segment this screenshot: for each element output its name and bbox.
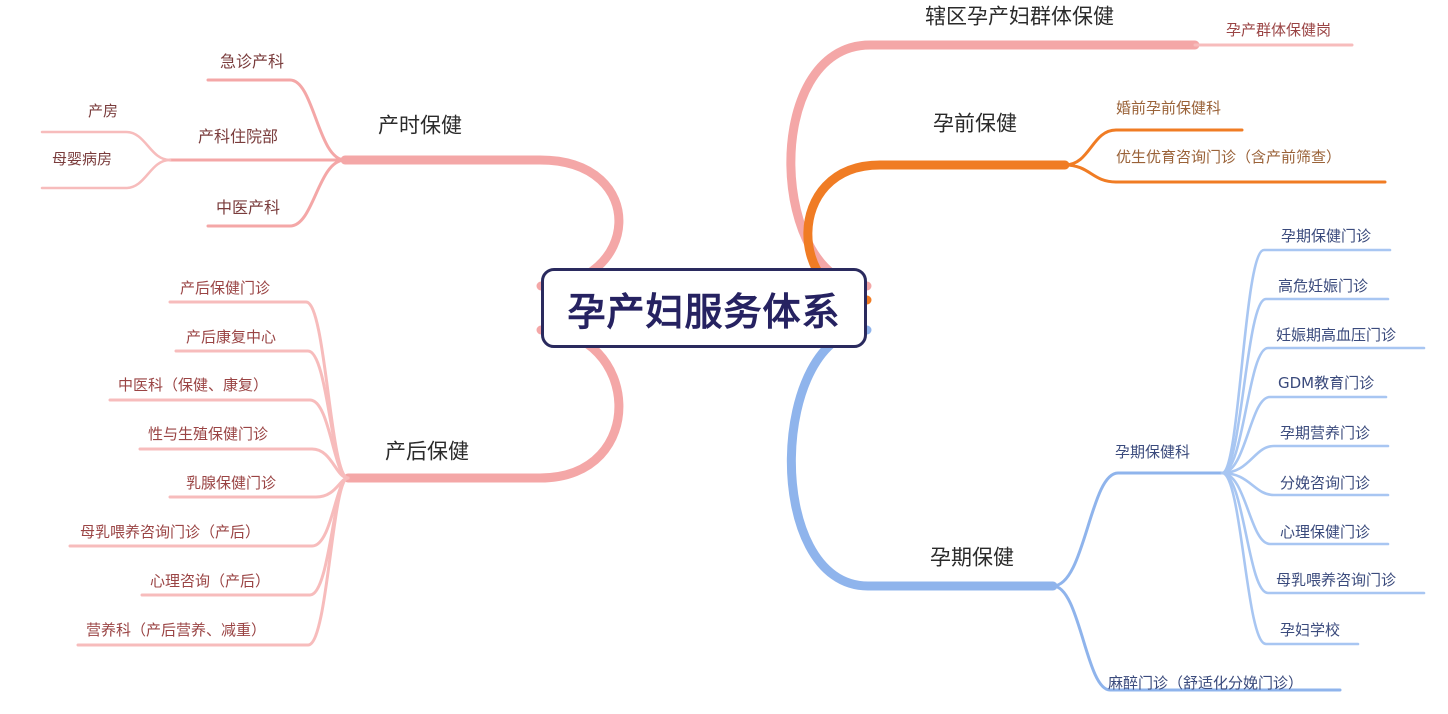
node-high-risk-pregnancy-clinic[interactable]: 高危妊娠门诊 [1278,278,1368,295]
node-emergency-obstetrics[interactable]: 急诊产科 [220,53,284,71]
branch-label-community[interactable]: 辖区孕产妇群体保健 [925,5,1114,28]
node-anesthesia-clinic[interactable]: 麻醉门诊（舒适化分娩门诊） [1108,675,1303,692]
branch-label-prenatal[interactable]: 孕期保健 [930,546,1014,569]
node-prenatal-care-dept[interactable]: 孕期保健科 [1115,444,1190,461]
node-eugenics-counseling-clinic[interactable]: 优生优育咨询门诊（含产前筛查） [1116,149,1341,166]
node-tcm-dept[interactable]: 中医科（保健、康复） [118,377,268,394]
root-label: 孕产妇服务体系 [567,281,840,336]
node-postpartum-rehab-center[interactable]: 产后康复中心 [186,329,276,346]
node-delivery-room[interactable]: 产房 [88,103,118,120]
node-obstetric-inpatient[interactable]: 产科住院部 [198,128,278,146]
node-psych-counseling-postpartum[interactable]: 心理咨询（产后） [150,573,270,590]
node-delivery-counseling-clinic[interactable]: 分娩咨询门诊 [1280,475,1370,492]
node-sexual-reproductive-clinic[interactable]: 性与生殖保健门诊 [148,426,268,443]
node-postpartum-clinic[interactable]: 产后保健门诊 [180,280,270,297]
root-node[interactable]: 孕产妇服务体系 [541,268,867,348]
node-tcm-obstetrics[interactable]: 中医产科 [216,199,280,217]
node-gdm-education-clinic[interactable]: GDM教育门诊 [1278,375,1374,392]
node-breastfeeding-counseling-clinic[interactable]: 母乳喂养咨询门诊 [1276,572,1396,589]
node-mental-health-clinic[interactable]: 心理保健门诊 [1280,524,1370,541]
branch-label-intrapartum[interactable]: 产时保健 [378,114,462,137]
branch-label-preconception[interactable]: 孕前保健 [933,112,1017,135]
node-premarital-preconception-dept[interactable]: 婚前孕前保健科 [1116,100,1221,117]
branch-label-postpartum[interactable]: 产后保健 [385,440,469,463]
node-pregnant-school[interactable]: 孕妇学校 [1280,622,1340,639]
node-gestational-hypertension-clinic[interactable]: 妊娠期高血压门诊 [1276,327,1396,344]
node-breast-health-clinic[interactable]: 乳腺保健门诊 [186,475,276,492]
node-maternal-infant-ward[interactable]: 母婴病房 [52,151,112,168]
node-prenatal-health-clinic[interactable]: 孕期保健门诊 [1281,228,1371,245]
node-breastfeeding-clinic-postpartum[interactable]: 母乳喂养咨询门诊（产后） [80,524,260,541]
node-prenatal-nutrition-clinic[interactable]: 孕期营养门诊 [1280,425,1370,442]
node-nutrition-dept-postpartum[interactable]: 营养科（产后营养、减重） [86,622,266,639]
node-maternal-group-health-post[interactable]: 孕产群体保健岗 [1226,22,1331,39]
mindmap-canvas: 孕产妇服务体系 产时保健 急诊产科 产科住院部 产房 母婴病房 中医产科 产后保… [0,0,1448,714]
branch-connectors [0,0,1448,714]
